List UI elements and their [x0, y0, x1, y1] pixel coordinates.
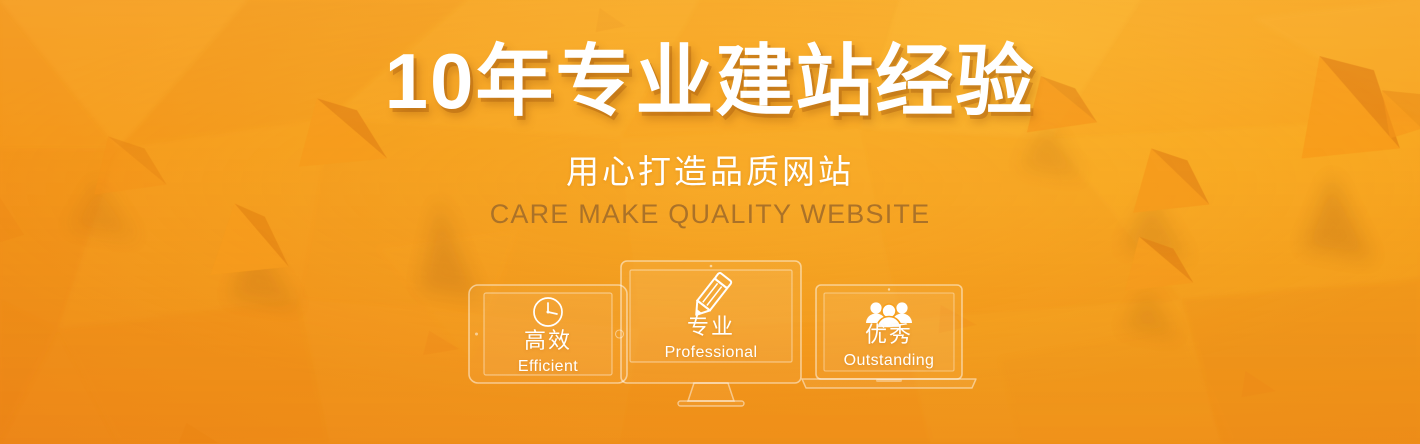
banner-content: 10年专业建站经验 用心打造品质网站 CARE MAKE QUALITY WEB…: [0, 0, 1420, 444]
tablet-outline-icon: [468, 284, 628, 384]
promo-banner: 10年专业建站经验 用心打造品质网站 CARE MAKE QUALITY WEB…: [0, 0, 1420, 444]
banner-subtitle-chinese: 用心打造品质网站: [0, 155, 1420, 188]
feature-card-professional: 专业 Professional: [620, 260, 802, 412]
feature-card-outstanding: 优秀 Outstanding: [798, 284, 980, 394]
feature-devices-row: 高效 Efficient: [0, 252, 1420, 412]
monitor-outline-icon: [620, 260, 802, 412]
banner-subtitle-english: CARE MAKE QUALITY WEBSITE: [0, 201, 1420, 228]
feature-card-efficient: 高效 Efficient: [468, 284, 628, 384]
banner-headline: 10年专业建站经验: [0, 42, 1420, 120]
laptop-outline-icon: [798, 284, 980, 394]
